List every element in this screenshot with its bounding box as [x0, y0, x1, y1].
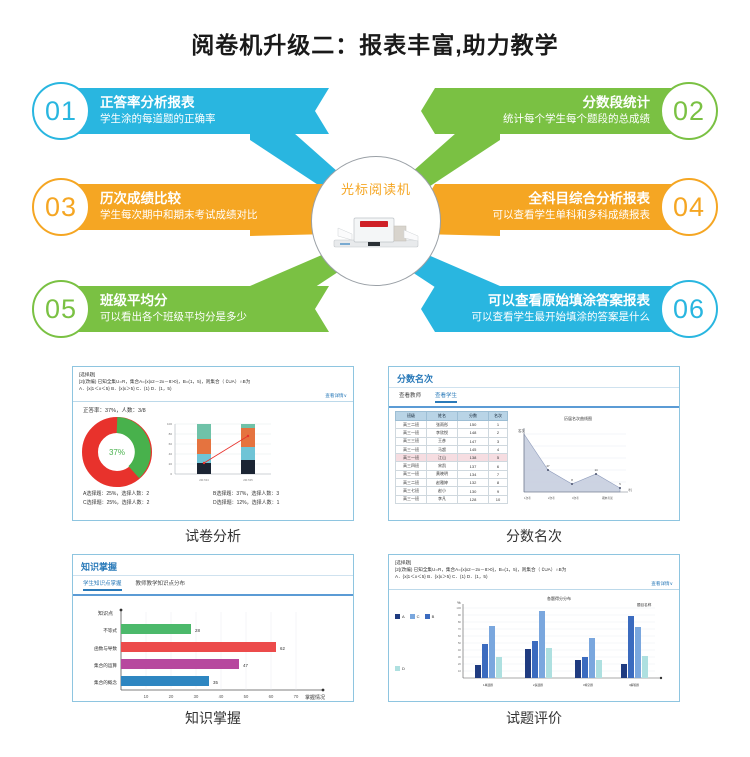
svg-text:8: 8: [571, 478, 573, 482]
svg-text:50: 50: [458, 641, 462, 645]
feature-row-03[interactable]: 03 历次成绩比较 学生每次期中和期末考试成绩对比: [32, 176, 332, 238]
legend-item-a: A: [395, 592, 405, 640]
feature-banner-05[interactable]: 班级平均分 可以看出各个班级平均分是多少: [74, 286, 329, 332]
option-stat-c: C选择题：25%，选择人数：2: [83, 499, 213, 508]
panel-score-rank[interactable]: 分数名次 查看教师 查看学生 班级 姓名 分数 名次 高三二班张雨彤1501高三…: [388, 366, 680, 521]
table-cell: 3: [489, 437, 508, 445]
feature-title-06: 可以查看原始填涂答案报表: [421, 293, 650, 310]
table-cell: 5: [489, 454, 508, 462]
table-cell: 李凡: [427, 495, 458, 503]
donut-center-label: 37%: [109, 448, 125, 457]
table-cell: 9: [489, 487, 508, 495]
svg-text:50: 50: [244, 694, 249, 699]
feature-number-04: 04: [660, 178, 718, 236]
svg-text:30: 30: [194, 694, 199, 699]
svg-text:5: 5: [619, 482, 621, 486]
table-cell: 黄晓明: [427, 470, 458, 478]
svg-text:2017/05: 2017/05: [243, 478, 253, 482]
feature-number-06: 06: [660, 280, 718, 338]
table-cell: 高三四班: [396, 462, 427, 470]
caption-score-rank: 分数名次: [388, 526, 680, 546]
chart-title-rank-history: 历届名次曲线图: [564, 415, 592, 421]
feature-row-04[interactable]: 04 全科目综合分析报表 可以查看学生单科和多科成绩报表: [418, 176, 718, 238]
center-label: 光标阅读机: [341, 179, 411, 198]
feature-sub-01: 学生涂的每道题的正确率: [100, 113, 329, 127]
tab-teacher-knowledge[interactable]: 教师教学知识点分布: [136, 579, 186, 591]
table-cell: 宋凯: [427, 462, 458, 470]
legend-item-c: C: [410, 592, 420, 640]
feature-title-03: 历次成绩比较: [100, 191, 329, 208]
option-stat-b: B选择题：37%，选择人数：3: [213, 490, 343, 499]
option-stat-a: A选择题：25%，选择人数：2: [83, 490, 213, 499]
table-row[interactable]: 高三二班张雨彤1501: [396, 421, 508, 429]
svg-text:100: 100: [167, 422, 172, 426]
svg-text:20: 20: [169, 462, 173, 466]
panel-exam-analysis[interactable]: [选择题] [2](改编) 已知全集U=R，集合A={x|x2－2x－8>0}，…: [72, 366, 354, 521]
score-rank-tabs[interactable]: 查看教师 查看学生: [389, 388, 679, 408]
panel-knowledge[interactable]: 知识掌握 学生知识点掌握 教师教学知识点分布 知识点 2862 4735: [72, 554, 354, 702]
svg-text:70: 70: [294, 694, 299, 699]
legend-item-b: B: [425, 592, 435, 640]
svg-text:3填空题: 3填空题: [583, 683, 593, 687]
panel-title-knowledge: 知识掌握: [73, 555, 353, 576]
feature-title-01: 正答率分析报表: [100, 95, 329, 112]
center-node: 光标阅读机: [311, 156, 441, 286]
svg-text:28: 28: [195, 628, 200, 633]
option-stat-d: D选择题：12%，选择人数：1: [213, 499, 343, 508]
table-cell: 高三三班: [396, 437, 427, 445]
table-cell: 1: [489, 421, 508, 429]
question-header: [选择题] [2](改编) 已知全集U=R，集合A={x|x2－2x－8>0}，…: [73, 367, 353, 402]
question-header-eval: [选择题] [2](改编) 已知全集U=R，集合A={x|x2－2x－8>0}，…: [389, 555, 679, 590]
table-row[interactable]: 高三二班赵雅婷1328: [396, 479, 508, 487]
svg-text:40: 40: [458, 648, 462, 652]
table-cell: 李欣悦: [427, 429, 458, 437]
feature-row-02[interactable]: 02 分数段统计 统计每个学生每个题段的总成绩: [418, 80, 718, 142]
table-cell: 147: [458, 437, 489, 445]
table-cell: 134: [458, 470, 489, 478]
feature-sub-05: 可以看出各个班级平均分是多少: [100, 311, 329, 325]
table-row[interactable]: 高三一班李凡12810: [396, 495, 508, 503]
chart-question-eval-bar: 各题得分分布 题目名称 % 1009080 706050 403020: [441, 590, 673, 692]
svg-text:题目名称: 题目名称: [637, 602, 652, 607]
table-cell: 高三一班: [396, 445, 427, 453]
table-row[interactable]: 高三一班马超1454: [396, 445, 508, 453]
table-cell: 高三二班: [396, 421, 427, 429]
svg-text:3次考: 3次考: [572, 496, 579, 500]
svg-text:60: 60: [269, 694, 274, 699]
table-cell: 130: [458, 487, 489, 495]
chart-title-question-eval: 各题得分分布: [547, 595, 571, 601]
caption-knowledge: 知识掌握: [72, 708, 354, 728]
table-row[interactable]: 高三四班宋凯1376: [396, 462, 508, 470]
table-cell: 128: [458, 495, 489, 503]
feature-row-01[interactable]: 01 正答率分析报表 学生涂的每道题的正确率: [32, 80, 332, 142]
table-cell: 高三一班: [396, 495, 427, 503]
correct-rate-text: 正答率：37%，人数：3/8: [73, 402, 353, 414]
svg-text:70: 70: [458, 627, 462, 631]
svg-text:集合的概念: 集合的概念: [94, 679, 117, 686]
svg-text:2次考: 2次考: [548, 496, 555, 500]
col-score: 分数: [458, 412, 489, 421]
axis-label-knowledge-x: 掌握情况: [305, 694, 325, 701]
feature-title-04: 全科目综合分析报表: [421, 191, 650, 208]
question-body-eval: [2](改编) 已知全集U=R，集合A={x|x2－2x－8>0}，B=(1，5…: [395, 566, 673, 573]
table-cell: 高三一班: [396, 429, 427, 437]
scanner-machine-icon: [324, 206, 428, 252]
chart-rank-history-area: 历届名次曲线图 名次 27 8 14 5: [510, 408, 632, 504]
table-row[interactable]: 高三一班黄晓明1347: [396, 470, 508, 478]
table-cell: 150: [458, 421, 489, 429]
knowledge-tabs[interactable]: 学生知识点掌握 教师教学知识点分布: [73, 576, 353, 596]
svg-text:60: 60: [458, 634, 462, 638]
table-cell: 高三二班: [396, 479, 427, 487]
feature-row-06[interactable]: 06 可以查看原始填涂答案报表 可以查看学生最开始填涂的答案是什么: [418, 278, 718, 340]
table-cell: 148: [458, 429, 489, 437]
table-cell: 高三一班: [396, 470, 427, 478]
svg-text:80: 80: [169, 432, 173, 436]
svg-text:100: 100: [456, 606, 461, 610]
view-detail-link-eval[interactable]: 查看详情∨: [395, 580, 673, 587]
svg-text:40: 40: [219, 694, 224, 699]
table-cell: 7: [489, 470, 508, 478]
option-stats-list: A选择题：25%，选择人数：2 B选择题：37%，选择人数：3 C选择题：25%…: [73, 488, 353, 510]
feature-row-05[interactable]: 05 班级平均分 可以看出各个班级平均分是多少: [32, 278, 332, 340]
feature-banner-03[interactable]: 历次成绩比较 学生每次期中和期末考试成绩对比: [74, 184, 329, 230]
table-cell: 2: [489, 429, 508, 437]
table-cell: 马超: [427, 445, 458, 453]
svg-text:2017/04: 2017/04: [199, 478, 209, 482]
legend-item-d: D: [395, 645, 405, 693]
feature-sub-04: 可以查看学生单科和多科成绩报表: [421, 209, 650, 223]
page-title: 阅卷机升级二：报表丰富,助力教学: [0, 26, 750, 60]
view-detail-link[interactable]: 查看详情∨: [79, 392, 347, 399]
feature-banner-06[interactable]: 可以查看原始填涂答案报表 可以查看学生最开始填涂的答案是什么: [421, 286, 676, 332]
panel-question-eval[interactable]: [选择题] [2](改编) 已知全集U=R，集合A={x|x2－2x－8>0}，…: [388, 554, 680, 702]
question-tag: [选择题]: [79, 371, 347, 378]
question-tag-eval: [选择题]: [395, 559, 673, 566]
svg-text:10: 10: [144, 694, 149, 699]
tab-view-teacher[interactable]: 查看教师: [399, 391, 421, 403]
svg-text:%: %: [457, 600, 461, 605]
svg-text:60: 60: [169, 442, 173, 446]
svg-text:35: 35: [213, 680, 218, 685]
feature-diagram: 01 正答率分析报表 学生涂的每道题的正确率 02 分数段统计 统计每个学生每个…: [0, 72, 750, 352]
question-body: [2](改编) 已知全集U=R，集合A={x|x2－2x－8>0}，B=(1，5…: [79, 378, 347, 385]
question-options-eval: A．{x|1＜x＜5} B．{x|x＞5} C．(1) D．(1，5): [395, 573, 673, 580]
feature-number-01: 01: [32, 82, 90, 140]
svg-text:10: 10: [458, 669, 462, 673]
table-header-row: 班级 姓名 分数 名次: [396, 412, 508, 421]
svg-text:考试: 考试: [628, 488, 632, 492]
table-cell: 赵雅婷: [427, 479, 458, 487]
question-options: A．{x|1＜x＜5} B．{x|x＞5} C．(1) D．(1，5): [79, 385, 347, 392]
table-row[interactable]: 高三一班李欣悦1482: [396, 429, 508, 437]
svg-text:4解答题: 4解答题: [629, 683, 639, 687]
svg-text:2多选题: 2多选题: [533, 683, 543, 687]
table-cell: 10: [489, 495, 508, 503]
svg-text:函数与导数: 函数与导数: [94, 645, 117, 652]
col-name: 姓名: [427, 412, 458, 421]
feature-banner-02[interactable]: 分数段统计 统计每个学生每个题段的总成绩: [421, 88, 676, 134]
feature-banner-01[interactable]: 正答率分析报表 学生涂的每道题的正确率: [74, 88, 329, 134]
feature-number-05: 05: [32, 280, 90, 338]
col-class: 班级: [396, 412, 427, 421]
caption-question-eval: 试题评价: [388, 708, 680, 728]
table-cell: 高三一班: [396, 454, 427, 462]
feature-sub-02: 统计每个学生每个题段的总成绩: [421, 113, 650, 127]
panel-title-score-rank: 分数名次: [389, 367, 679, 388]
table-cell: 王彦: [427, 437, 458, 445]
svg-text:90: 90: [458, 613, 462, 617]
chart-option-stacked-bar: 10080 6040 200 2017/04 2017/05: [159, 418, 277, 486]
svg-text:62: 62: [280, 646, 285, 651]
feature-title-05: 班级平均分: [100, 293, 329, 310]
svg-text:1单选题: 1单选题: [483, 683, 493, 687]
svg-text:30: 30: [458, 655, 462, 659]
feature-number-02: 02: [660, 82, 718, 140]
table-cell: 4: [489, 445, 508, 453]
table-row[interactable]: 高三三班王彦1473: [396, 437, 508, 445]
svg-text:20: 20: [169, 694, 174, 699]
chart-knowledge-bar: 知识点 2862 4735 不等式函数与导数 集合的运算集合的概念: [73, 598, 343, 706]
svg-text:14: 14: [594, 468, 598, 472]
table-cell: 江山: [427, 454, 458, 462]
svg-text:期末考试: 期末考试: [602, 496, 613, 500]
svg-text:0: 0: [170, 472, 172, 476]
svg-text:20: 20: [458, 662, 462, 666]
svg-text:80: 80: [458, 620, 462, 624]
table-cell: 137: [458, 462, 489, 470]
tab-student-knowledge[interactable]: 学生知识点掌握: [83, 579, 122, 591]
table-cell: 8: [489, 479, 508, 487]
table-cell: 6: [489, 462, 508, 470]
score-rank-table: 班级 姓名 分数 名次 高三二班张雨彤1501高三一班李欣悦1482高三三班王彦…: [395, 411, 508, 504]
table-row[interactable]: 高三七班赵小1309: [396, 487, 508, 495]
table-cell: 132: [458, 479, 489, 487]
svg-text:集合的运算: 集合的运算: [94, 662, 117, 669]
svg-text:40: 40: [169, 452, 173, 456]
table-cell: 145: [458, 445, 489, 453]
chart-legend-question-eval: A C B D: [389, 590, 441, 692]
svg-text:27: 27: [546, 464, 550, 468]
table-cell: 138: [458, 454, 489, 462]
table-cell: 张雨彤: [427, 421, 458, 429]
table-cell: 高三七班: [396, 487, 427, 495]
table-cell: 赵小: [427, 487, 458, 495]
col-rank: 名次: [489, 412, 508, 421]
feature-banner-04[interactable]: 全科目综合分析报表 可以查看学生单科和多科成绩报表: [421, 184, 676, 230]
axis-label-knowledge-y: 知识点: [98, 610, 113, 617]
feature-sub-06: 可以查看学生最开始填涂的答案是什么: [421, 311, 650, 325]
table-row[interactable]: 高三一班江山1385: [396, 454, 508, 462]
svg-text:47: 47: [243, 663, 248, 668]
feature-title-02: 分数段统计: [421, 95, 650, 112]
tab-view-student[interactable]: 查看学生: [435, 391, 457, 403]
svg-text:不等式: 不等式: [103, 627, 117, 634]
caption-exam-analysis: 试卷分析: [72, 526, 354, 546]
feature-number-03: 03: [32, 178, 90, 236]
chart-correct-rate-donut: 37%: [81, 416, 153, 488]
svg-text:1次考: 1次考: [524, 496, 531, 500]
feature-sub-03: 学生每次期中和期末考试成绩对比: [100, 209, 329, 223]
